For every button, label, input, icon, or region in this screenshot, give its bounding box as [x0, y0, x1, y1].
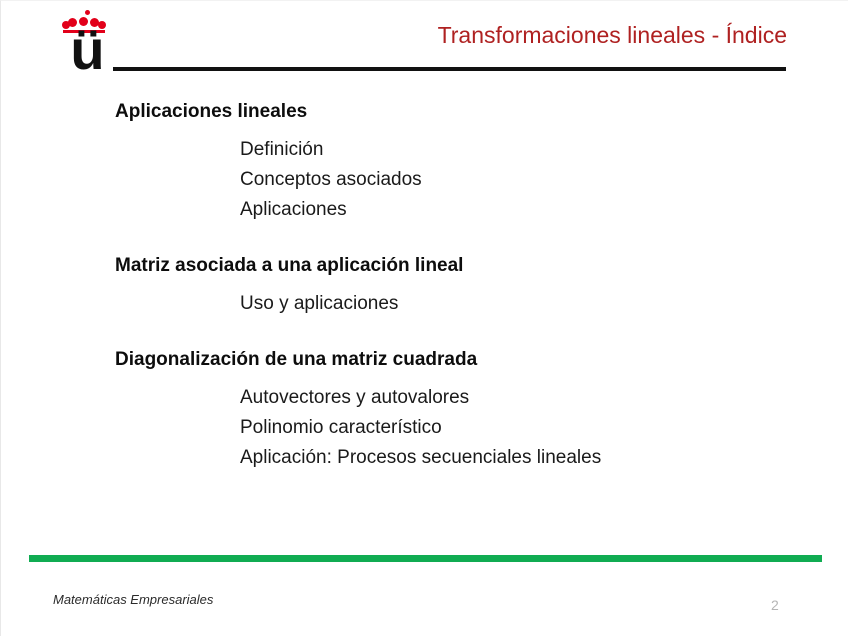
list-item: Definición	[1, 135, 848, 165]
index-section: Matriz asociada a una aplicación lineal …	[1, 251, 848, 319]
list-item: Uso y aplicaciones	[1, 289, 848, 319]
index-section: Diagonalización de una matriz cuadrada A…	[1, 345, 848, 473]
index-content: Aplicaciones lineales Definición Concept…	[1, 97, 848, 537]
section-item-list: Definición Conceptos asociados Aplicacio…	[1, 135, 848, 225]
section-heading: Matriz asociada a una aplicación lineal	[1, 251, 848, 281]
slide-canvas: ü Transformaciones lineales - Índice Apl…	[0, 0, 848, 636]
crown-top-dot-icon	[85, 10, 90, 15]
logo-letter: ü	[61, 27, 113, 73]
section-heading: Diagonalización de una matriz cuadrada	[1, 345, 848, 375]
list-item: Conceptos asociados	[1, 165, 848, 195]
section-item-list: Autovectores y autovalores Polinomio car…	[1, 383, 848, 473]
index-section: Aplicaciones lineales Definición Concept…	[1, 97, 848, 225]
slide-header: ü Transformaciones lineales - Índice	[1, 1, 848, 91]
footer-course-label: Matemáticas Empresariales	[53, 591, 213, 609]
urjc-crown-logo-icon: ü	[61, 9, 113, 71]
list-item: Aplicaciones	[1, 195, 848, 225]
footer-accent-bar	[29, 555, 822, 562]
section-item-list: Uso y aplicaciones	[1, 289, 848, 319]
list-item: Autovectores y autovalores	[1, 383, 848, 413]
header-divider	[113, 67, 786, 71]
section-heading: Aplicaciones lineales	[1, 97, 848, 127]
page-number: 2	[771, 596, 801, 614]
list-item: Polinomio característico	[1, 413, 848, 443]
list-item: Aplicación: Procesos secuenciales lineal…	[1, 443, 848, 473]
page-title: Transformaciones lineales - Índice	[301, 21, 787, 49]
